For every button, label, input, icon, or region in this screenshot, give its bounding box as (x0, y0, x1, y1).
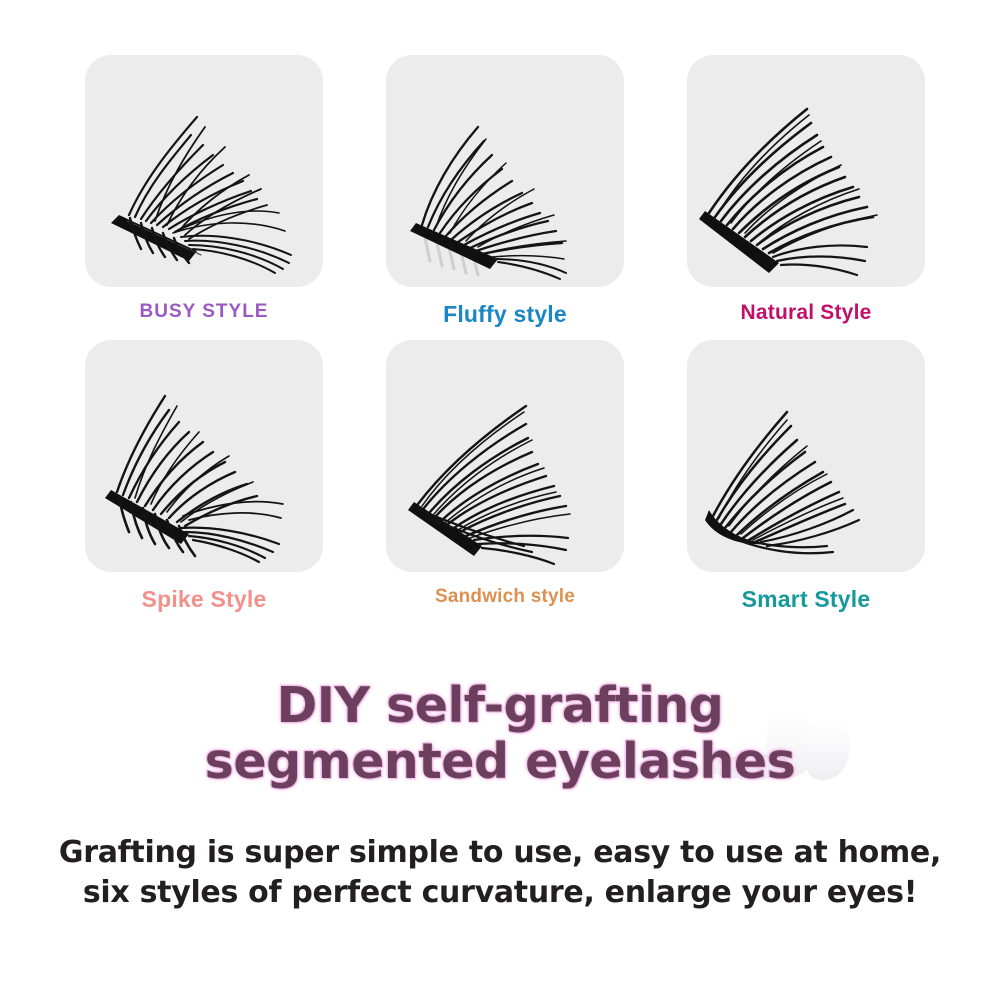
product-infographic: BUSY STYLE (0, 0, 1000, 1000)
description-line-1: Grafting is super simple to use, easy to… (0, 833, 1000, 873)
style-card-grid: BUSY STYLE (85, 55, 925, 613)
style-card-sandwich[interactable]: Sandwich style (386, 340, 624, 613)
style-card-smart[interactable]: Smart Style (687, 340, 925, 613)
eyelash-cluster-natural-icon (687, 55, 925, 287)
lash-thumbnail-smart (687, 340, 925, 572)
headline: DIY self-grafting segmented eyelashes (0, 678, 1000, 790)
style-card-spike-label: Spike Style (85, 572, 323, 613)
headline-line-2: segmented eyelashes (0, 734, 1000, 790)
eyelash-cluster-fluffy-icon (386, 55, 624, 287)
style-card-fluffy-label: Fluffy style (386, 287, 624, 328)
style-card-busy[interactable]: BUSY STYLE (85, 55, 323, 328)
style-card-spike[interactable]: Spike Style (85, 340, 323, 613)
style-card-smart-label: Smart Style (687, 572, 925, 613)
description-paragraph: Grafting is super simple to use, easy to… (0, 833, 1000, 913)
description-line-2: six styles of perfect curvature, enlarge… (0, 873, 1000, 913)
headline-line-1: DIY self-grafting (0, 678, 1000, 734)
lash-thumbnail-spike (85, 340, 323, 572)
lash-thumbnail-fluffy (386, 55, 624, 287)
eyelash-cluster-sandwich-icon (386, 340, 624, 572)
style-card-fluffy[interactable]: Fluffy style (386, 55, 624, 328)
lash-thumbnail-sandwich (386, 340, 624, 572)
style-card-busy-label: BUSY STYLE (85, 287, 323, 323)
eyelash-cluster-spike-icon (85, 340, 323, 572)
lash-thumbnail-busy (85, 55, 323, 287)
lash-thumbnail-natural (687, 55, 925, 287)
style-card-sandwich-label: Sandwich style (386, 572, 624, 608)
style-card-natural[interactable]: Natural Style (687, 55, 925, 328)
eyelash-cluster-smart-icon (687, 340, 925, 572)
style-card-natural-label: Natural Style (687, 287, 925, 325)
eyelash-cluster-busy-icon (85, 55, 323, 287)
